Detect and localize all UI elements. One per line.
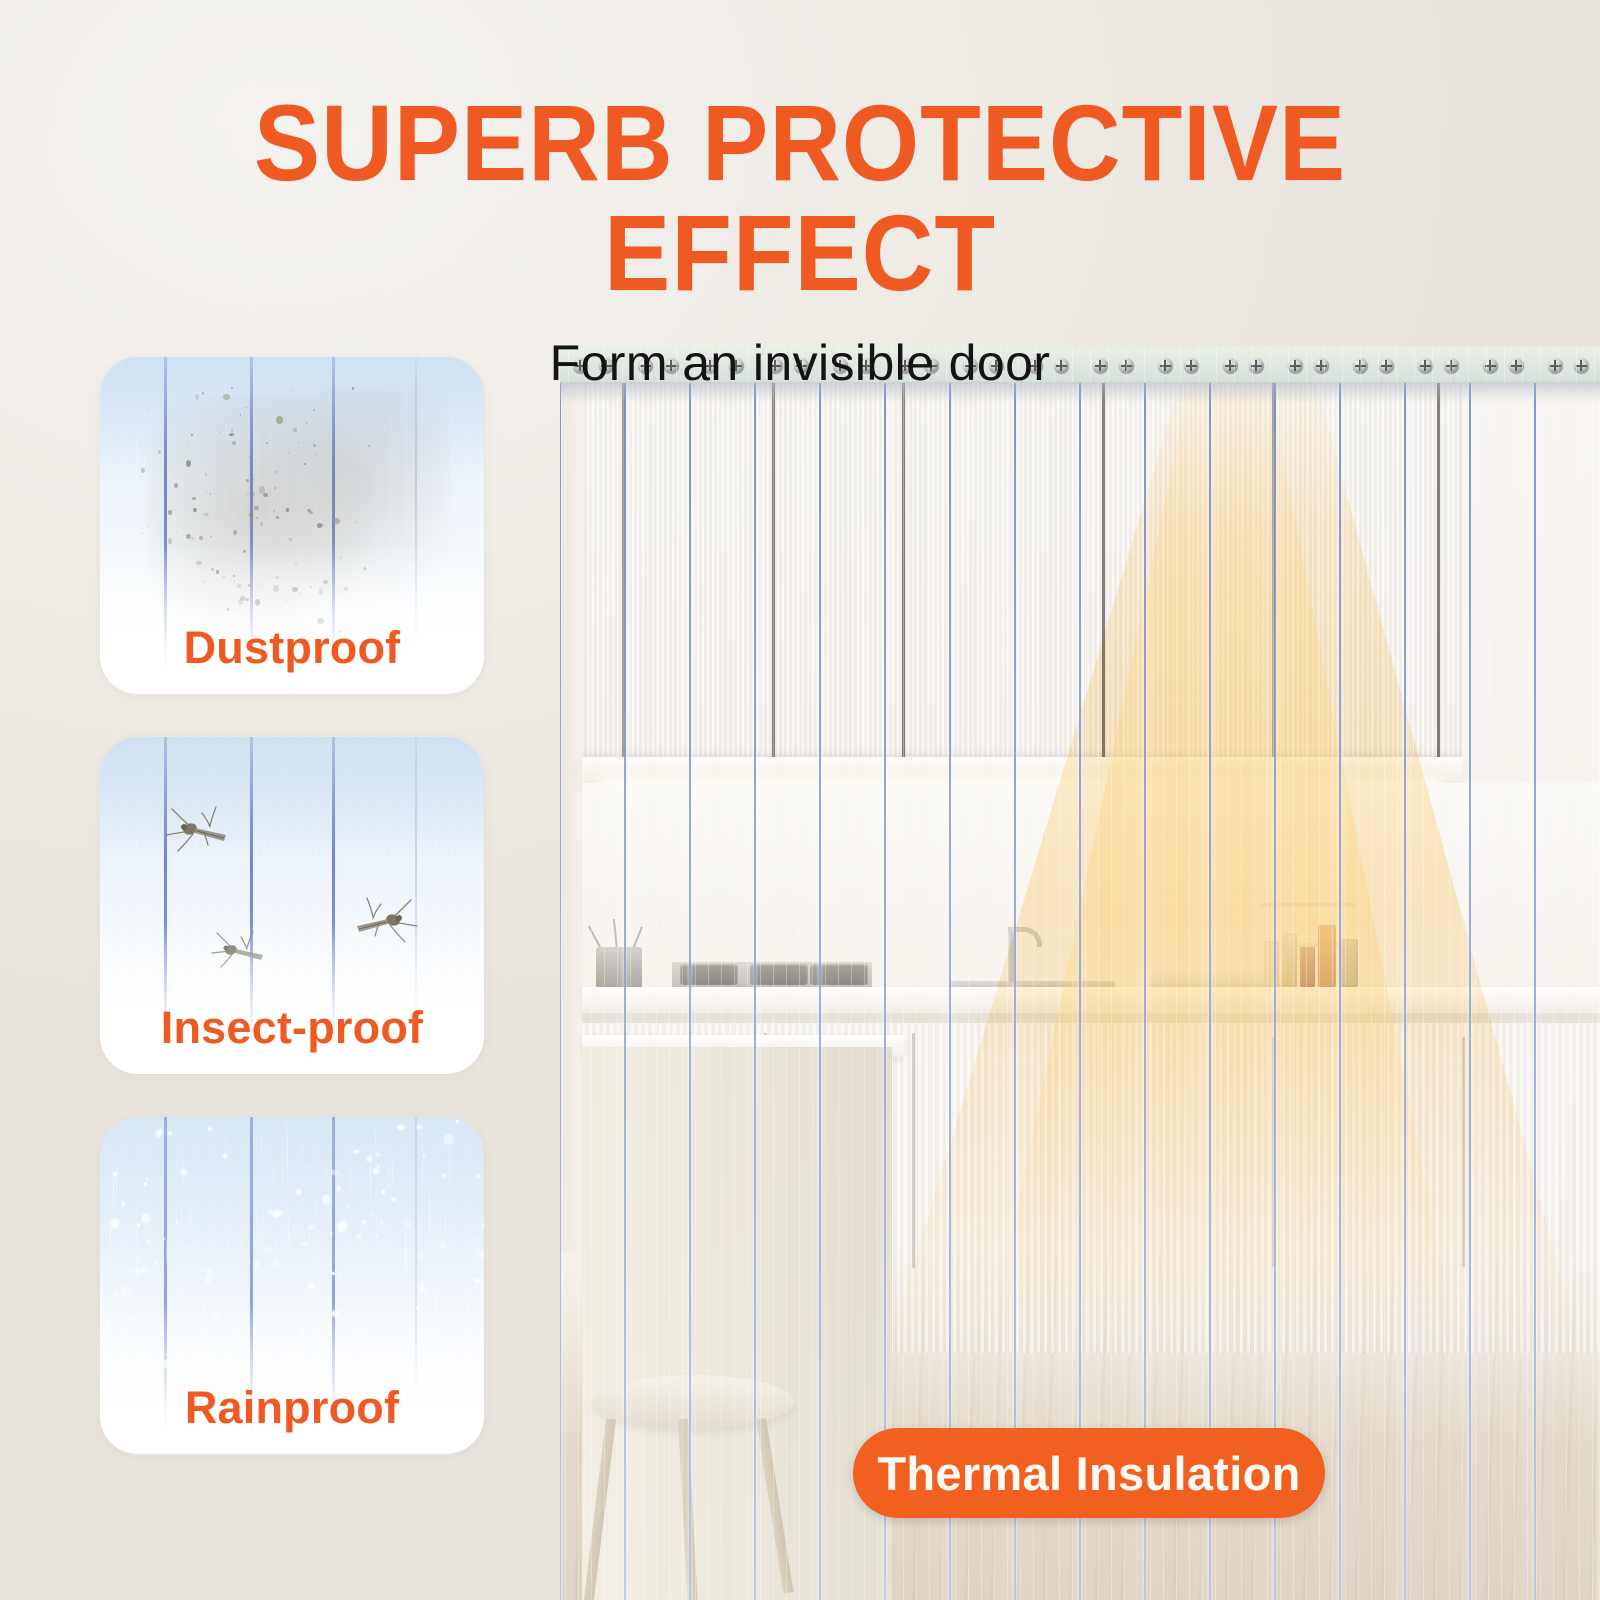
water-droplet xyxy=(417,1125,421,1128)
water-droplet xyxy=(331,1170,336,1174)
water-droplet xyxy=(471,1238,474,1241)
cabinet-handle xyxy=(912,1033,915,1268)
water-streak xyxy=(397,1177,398,1219)
dust-speck xyxy=(321,524,322,526)
cabinet-seam xyxy=(772,377,775,757)
dust-speck xyxy=(232,441,236,445)
card-top-fade xyxy=(100,737,484,857)
dust-speck xyxy=(195,394,199,399)
mosquito-icon xyxy=(164,801,238,863)
water-streak xyxy=(429,1211,430,1239)
cooktop-burner xyxy=(680,964,738,985)
cabinet-seam xyxy=(1102,377,1105,757)
cabinet-seam xyxy=(1437,377,1440,757)
water-streak xyxy=(306,1176,307,1194)
dust-speck xyxy=(295,467,296,468)
dust-speck xyxy=(304,463,306,465)
dust-speck xyxy=(266,442,268,444)
feature-card-rainproof[interactable]: Rainproof xyxy=(100,1117,484,1454)
dust-speck xyxy=(186,534,191,539)
feature-card-insect-proof[interactable]: Insect-proof xyxy=(100,737,484,1074)
water-droplet xyxy=(376,1234,378,1236)
dust-speck xyxy=(148,410,150,412)
water-droplet xyxy=(482,1223,484,1227)
water-droplet xyxy=(309,1225,313,1229)
cabinet-seam xyxy=(1272,377,1275,757)
cabinet-seam xyxy=(1272,1037,1275,1267)
water-streak xyxy=(449,1140,450,1197)
water-droplet xyxy=(322,1195,329,1205)
dust-speck xyxy=(158,450,161,454)
water-streak xyxy=(309,1204,310,1266)
dust-speck xyxy=(245,407,247,408)
header: SUPERB PROTECTIVE EFFECT Form an invisib… xyxy=(0,0,1600,392)
feature-card-label-dustproof: Dustproof xyxy=(100,622,484,674)
water-droplet xyxy=(141,1266,149,1273)
water-streak xyxy=(261,1132,262,1161)
water-droplet xyxy=(382,1190,385,1194)
dust-speck xyxy=(204,513,209,516)
water-streak xyxy=(350,1148,351,1208)
dust-speck xyxy=(168,510,172,514)
water-streak xyxy=(419,1211,420,1260)
water-streak xyxy=(314,1188,315,1220)
water-droplet xyxy=(339,1274,343,1277)
water-droplet xyxy=(168,1132,172,1135)
water-streak xyxy=(273,1160,274,1193)
dust-speck xyxy=(231,387,233,389)
water-streak xyxy=(388,1144,389,1208)
dust-speck xyxy=(288,452,289,454)
countertop-edge xyxy=(582,1013,1600,1023)
dust-speck xyxy=(368,445,370,447)
water-droplet xyxy=(456,1120,459,1123)
dust-speck xyxy=(260,522,263,525)
water-streak xyxy=(320,1228,321,1311)
thermal-insulation-badge[interactable]: Thermal Insulation xyxy=(853,1428,1325,1518)
cabinet-seam xyxy=(622,377,625,757)
dust-speck xyxy=(273,510,275,512)
dust-speck xyxy=(191,434,192,435)
countertop xyxy=(582,987,1600,1013)
feature-card-list: Dustproof xyxy=(100,357,484,1497)
water-streak xyxy=(259,1219,260,1253)
dust-speck xyxy=(210,493,211,494)
water-droplet xyxy=(223,1154,227,1158)
water-streak xyxy=(423,1135,424,1193)
water-droplet xyxy=(122,1202,125,1206)
dust-speck xyxy=(206,389,207,390)
water-streak xyxy=(183,1154,184,1201)
water-streak xyxy=(262,1201,263,1247)
water-droplet xyxy=(147,1240,150,1244)
water-droplet xyxy=(356,1234,361,1239)
water-droplet xyxy=(142,1214,149,1222)
dust-speck xyxy=(230,433,233,435)
water-streak xyxy=(166,1237,167,1265)
water-streak xyxy=(138,1233,139,1315)
water-streak xyxy=(137,1221,138,1248)
dust-speck xyxy=(256,517,258,519)
feature-card-label-insect-proof: Insect-proof xyxy=(100,1002,484,1054)
page-title: SUPERB PROTECTIVE EFFECT xyxy=(64,88,1536,308)
dust-speck xyxy=(274,487,276,489)
water-streak xyxy=(116,1145,117,1217)
water-droplet xyxy=(156,1130,162,1137)
water-droplet xyxy=(274,1243,277,1246)
water-streak xyxy=(288,1199,289,1265)
water-droplet xyxy=(363,1220,366,1224)
water-streak xyxy=(302,1138,303,1162)
water-streak xyxy=(335,1232,336,1299)
cabinet-seam xyxy=(902,377,905,757)
dust-speck xyxy=(202,392,204,395)
dust-speck xyxy=(254,506,258,511)
dust-speck xyxy=(199,536,204,540)
water-streak xyxy=(287,1119,288,1188)
water-streak xyxy=(405,1216,406,1298)
water-streak xyxy=(291,1233,292,1257)
water-droplet xyxy=(308,1166,310,1167)
cooktop-burner xyxy=(810,964,868,985)
dust-speck xyxy=(333,518,340,524)
kitchen-island xyxy=(582,1047,892,1600)
water-droplet xyxy=(115,1292,117,1294)
dust-speck xyxy=(286,508,289,512)
dust-speck xyxy=(175,510,177,512)
wall-left-return xyxy=(560,347,582,1252)
cooktop-burner xyxy=(750,964,808,985)
water-droplet xyxy=(337,1186,340,1190)
dust-speck xyxy=(316,453,317,455)
water-streak xyxy=(177,1141,178,1186)
dust-speck xyxy=(192,497,196,500)
water-streak xyxy=(124,1255,125,1306)
thermal-insulation-badge-label: Thermal Insulation xyxy=(877,1446,1300,1501)
water-streak xyxy=(176,1198,177,1235)
dust-speck xyxy=(249,513,253,517)
water-streak xyxy=(110,1192,111,1276)
dust-speck xyxy=(291,390,292,391)
water-droplet xyxy=(326,1172,328,1174)
water-streak xyxy=(375,1124,376,1154)
kitchen-scene xyxy=(560,347,1600,1600)
water-streak xyxy=(370,1148,371,1218)
water-streak xyxy=(190,1189,191,1247)
water-streak xyxy=(477,1230,478,1268)
dust-speck xyxy=(263,493,267,497)
water-droplet xyxy=(155,1262,157,1265)
water-streak xyxy=(392,1143,393,1205)
water-droplet xyxy=(442,1174,444,1177)
water-droplet xyxy=(266,1247,269,1250)
dust-speck xyxy=(276,516,279,519)
utensil-crock xyxy=(596,947,642,989)
dust-speck xyxy=(210,536,212,537)
dust-speck xyxy=(356,521,357,522)
dust-speck xyxy=(191,537,193,540)
water-streak xyxy=(282,1138,283,1202)
dust-speck xyxy=(141,468,145,473)
dust-speck xyxy=(193,508,196,511)
water-streak xyxy=(242,1233,243,1260)
dust-speck xyxy=(275,470,278,474)
water-streak xyxy=(208,1262,209,1296)
spice-jars xyxy=(1260,895,1390,987)
feature-card-dustproof[interactable]: Dustproof xyxy=(100,357,484,694)
water-streak xyxy=(117,1242,118,1270)
feature-card-label-rainproof: Rainproof xyxy=(100,1382,484,1434)
water-droplet xyxy=(474,1278,480,1283)
dust-speck xyxy=(249,456,251,458)
water-streak xyxy=(445,1192,446,1253)
upper-cabinets xyxy=(582,377,1462,757)
cabinet-seam xyxy=(1462,1037,1465,1267)
water-droplet xyxy=(479,1252,484,1257)
water-droplet xyxy=(144,1182,147,1186)
water-streak xyxy=(113,1154,114,1224)
room-interior xyxy=(560,347,1600,1600)
water-droplet xyxy=(121,1287,131,1297)
dust-speck xyxy=(186,460,191,467)
dust-speck xyxy=(225,461,226,462)
dust-speck xyxy=(142,533,143,534)
